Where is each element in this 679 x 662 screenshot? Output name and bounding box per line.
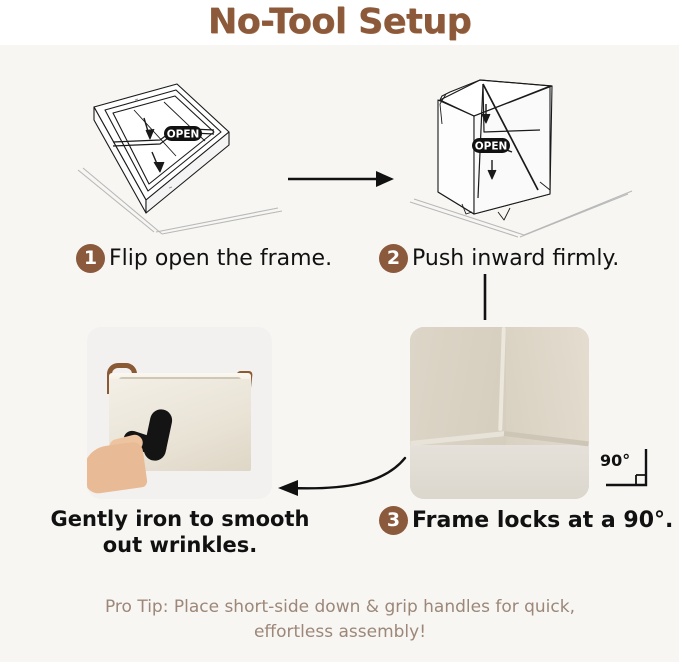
arrow-step1-to-step2 <box>286 168 396 195</box>
step-1-illustration: OPEN <box>72 72 312 237</box>
svg-text:OPEN: OPEN <box>475 141 508 153</box>
pro-tip-line2: effortless assembly! <box>60 620 620 645</box>
step-1-caption-text: Flip open the frame. <box>109 246 332 271</box>
iron-caption-line2: out wrinkles. <box>30 532 330 558</box>
arrow-step2-to-step3 <box>480 272 490 327</box>
bin-floor <box>410 445 589 499</box>
angle-marker: 90° <box>600 447 658 492</box>
step-3-caption: 3 Frame locks at a 90°. <box>379 506 673 535</box>
iron-caption: Gently iron to smooth out wrinkles. <box>30 506 330 559</box>
corner-photo <box>410 327 589 499</box>
arrow-step3-to-iron <box>272 440 412 505</box>
open-label-step1: OPEN <box>164 126 202 141</box>
step-1-caption: 1 Flip open the frame. <box>76 244 332 273</box>
step-3-caption-text: Frame locks at a 90°. <box>412 508 673 533</box>
infographic-page: No-Tool Setup <box>0 0 679 662</box>
hand <box>87 441 148 495</box>
iron-caption-line1: Gently iron to smooth <box>30 506 330 532</box>
pro-tip-line1: Pro Tip: Place short-side down & grip ha… <box>60 595 620 620</box>
pro-tip: Pro Tip: Place short-side down & grip ha… <box>60 595 620 644</box>
step-1-badge: 1 <box>76 244 105 273</box>
title-bar: No-Tool Setup <box>0 0 679 45</box>
svg-text:OPEN: OPEN <box>167 129 200 141</box>
step-2-caption-text: Push inward firmly. <box>412 246 619 271</box>
step-3-badge: 3 <box>379 506 408 535</box>
step-2-caption: 2 Push inward firmly. <box>379 244 619 273</box>
open-label-step2: OPEN <box>472 138 510 153</box>
page-title: No-Tool Setup <box>208 5 471 40</box>
step-2-illustration: OPEN <box>400 72 640 242</box>
steamer-photo <box>87 327 272 499</box>
step-2-badge: 2 <box>379 244 408 273</box>
